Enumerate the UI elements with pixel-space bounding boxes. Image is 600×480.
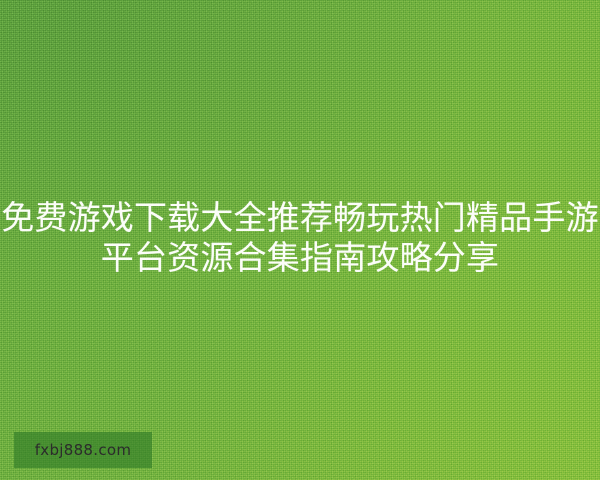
banner-title-line-2: 平台资源合集指南攻略分享 [0, 238, 600, 278]
banner-title: 免费游戏下载大全推荐畅玩热门精品手游 平台资源合集指南攻略分享 [0, 198, 600, 278]
watermark-badge: fxbj888.com [14, 432, 152, 468]
watermark-label: fxbj888.com [35, 441, 132, 459]
banner-canvas: 免费游戏下载大全推荐畅玩热门精品手游 平台资源合集指南攻略分享 fxbj888.… [0, 0, 600, 480]
banner-title-line-1: 免费游戏下载大全推荐畅玩热门精品手游 [0, 198, 600, 238]
